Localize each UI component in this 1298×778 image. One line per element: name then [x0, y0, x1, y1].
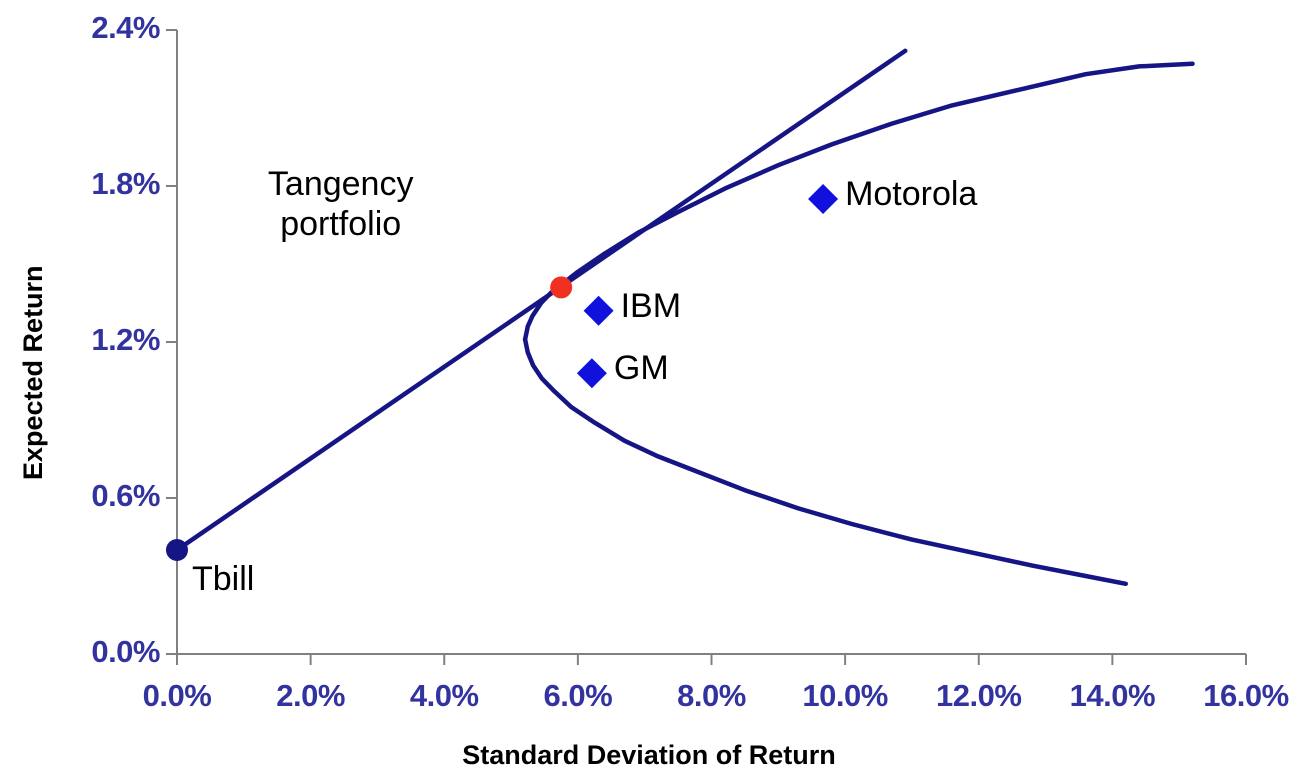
- plot-area: [0, 0, 1298, 778]
- y-tick-label-3: 1.8%: [91, 166, 160, 202]
- y-tick-label-0: 0.0%: [91, 634, 160, 670]
- point-label-gm: GM: [614, 349, 669, 388]
- marker-tangency-portfolio: [550, 276, 572, 298]
- marker-motorola: [808, 184, 838, 214]
- marker-ibm: [584, 296, 614, 326]
- chart-canvas: 0.0%0.6%1.2%1.8%2.4% 0.0%2.0%4.0%6.0%8.0…: [0, 0, 1298, 778]
- marker-gm: [577, 358, 607, 388]
- y-axis-title: Expected Return: [18, 265, 49, 480]
- x-tick-label-8: 16.0%: [1166, 678, 1298, 714]
- point-label-ibm: IBM: [621, 287, 681, 326]
- axes: [166, 30, 1246, 665]
- y-tick-label-4: 2.4%: [91, 10, 160, 46]
- y-tick-label-1: 0.6%: [91, 478, 160, 514]
- tangency-portfolio-annotation: Tangencyportfolio: [231, 164, 451, 244]
- x-axis-title: Standard Deviation of Return: [0, 740, 1298, 771]
- data-series: [177, 51, 1193, 584]
- tangency-portfolio-annotation-line-1: portfolio: [231, 204, 451, 244]
- marker-tbill: [166, 539, 188, 561]
- point-label-tbill: Tbill: [192, 560, 254, 599]
- tangency-portfolio-annotation-line-0: Tangency: [231, 164, 451, 204]
- series-line-2: [177, 51, 905, 550]
- point-label-motorola: Motorola: [845, 175, 977, 214]
- y-tick-label-2: 1.2%: [91, 322, 160, 358]
